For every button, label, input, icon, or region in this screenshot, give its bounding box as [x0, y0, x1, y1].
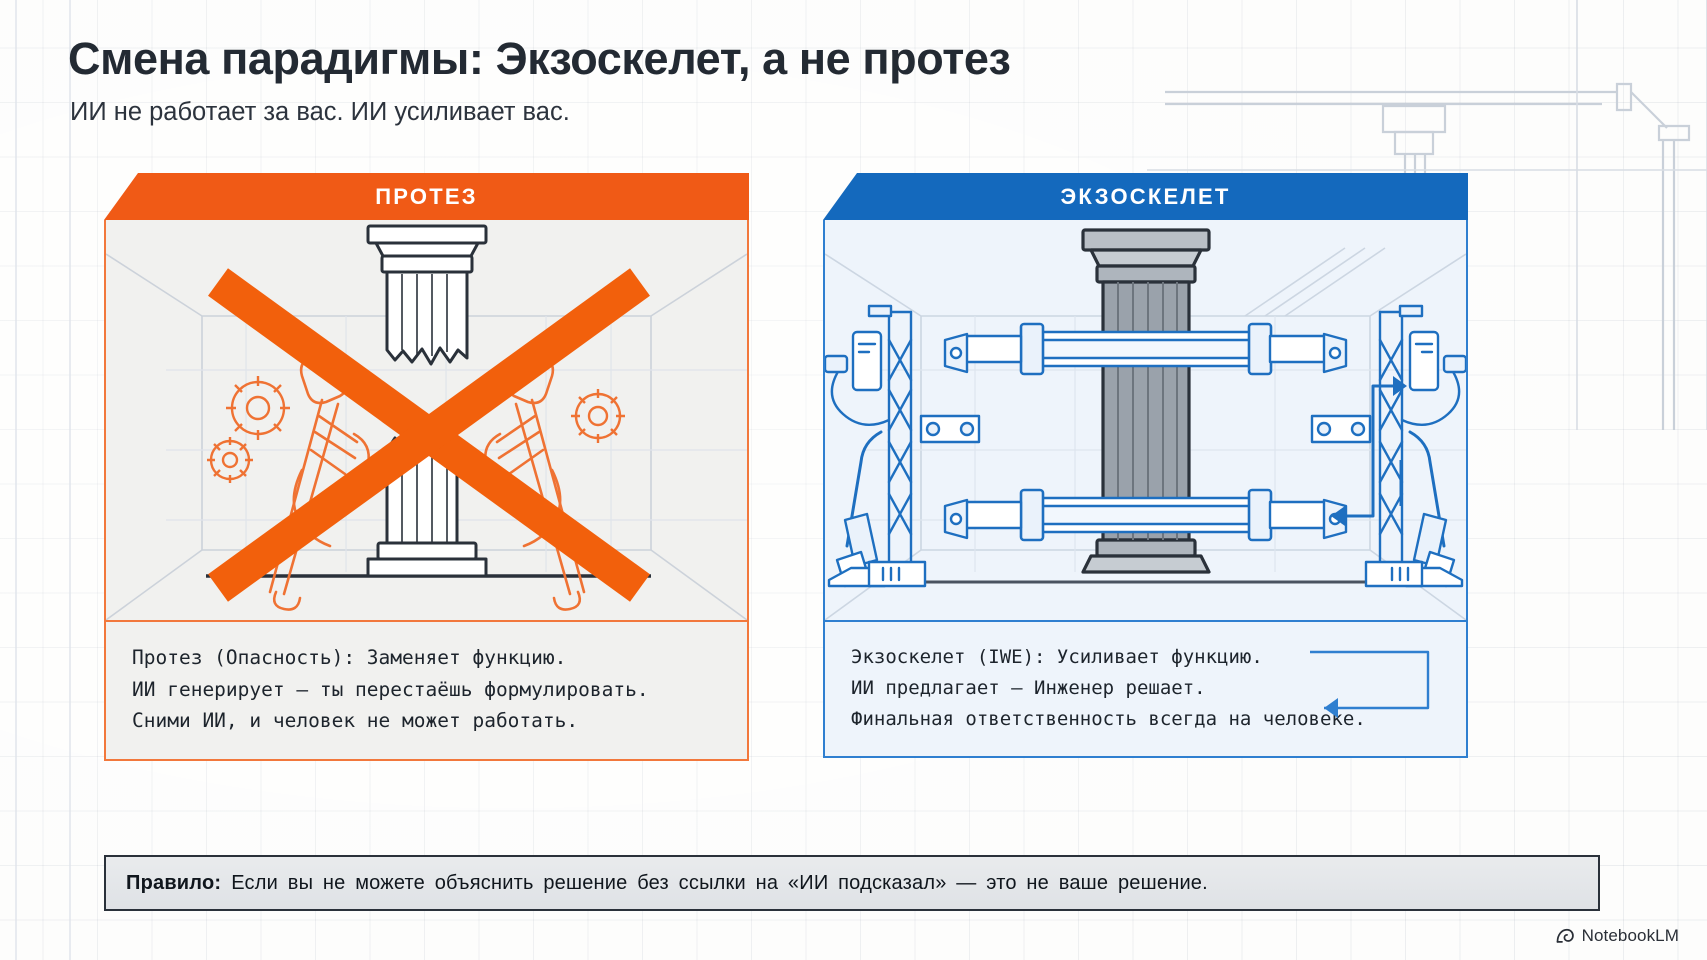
comparison-panels: ПРОТЕЗ	[104, 173, 1604, 761]
caption-line: ИИ генерирует — ты перестаёшь формулиров…	[132, 674, 725, 706]
illustration-exoskeleton	[825, 220, 1466, 620]
panel-exoskeleton: ЭКЗОСКЕЛЕТ	[823, 173, 1468, 761]
panel-badge-exoskeleton: ЭКЗОСКЕЛЕТ	[823, 173, 1468, 220]
slide-header: Смена парадигмы: Экзоскелет, а не протез…	[68, 34, 1010, 127]
caption-line: Финальная ответственность всегда на чело…	[851, 704, 1444, 735]
panel-badge-label: ПРОТЕЗ	[375, 184, 477, 210]
caption-exoskeleton: Экзоскелет (IWE): Усиливает функцию. ИИ …	[825, 620, 1466, 756]
panel-badge-label: ЭКЗОСКЕЛЕТ	[1060, 184, 1230, 210]
page-subtitle: ИИ не работает за вас. ИИ усиливает вас.	[70, 98, 1010, 127]
panel-body-exoskeleton: Экзоскелет (IWE): Усиливает функцию. ИИ …	[823, 220, 1468, 758]
notebooklm-logo-icon	[1555, 926, 1575, 946]
panel-badge-prosthesis: ПРОТЕЗ	[104, 173, 749, 220]
caption-line: ИИ предлагает — Инженер решает.	[851, 673, 1444, 704]
slide-canvas: Смена парадигмы: Экзоскелет, а не протез…	[0, 0, 1707, 960]
caption-prosthesis: Протез (Опасность): Заменяет функцию. ИИ…	[106, 620, 747, 759]
rule-banner: Правило:Если вы не можете объяснить реше…	[104, 855, 1600, 911]
caption-line: Протез (Опасность): Заменяет функцию.	[132, 642, 725, 674]
page-title: Смена парадигмы: Экзоскелет, а не протез	[68, 34, 1010, 84]
rule-label: Правило:	[126, 872, 221, 894]
caption-line: Экзоскелет (IWE): Усиливает функцию.	[851, 642, 1444, 673]
rule-text: Правило:Если вы не можете объяснить реше…	[126, 872, 1208, 895]
panel-prosthesis: ПРОТЕЗ	[104, 173, 749, 761]
rule-body: Если вы не можете объяснить решение без …	[231, 872, 1208, 894]
illustration-prosthesis	[106, 220, 747, 620]
panel-body-prosthesis: Протез (Опасность): Заменяет функцию. ИИ…	[104, 220, 749, 761]
notebooklm-brand: NotebookLM	[1555, 926, 1679, 946]
brand-name: NotebookLM	[1582, 926, 1679, 946]
caption-line: Сними ИИ, и человек не может работать.	[132, 705, 725, 737]
